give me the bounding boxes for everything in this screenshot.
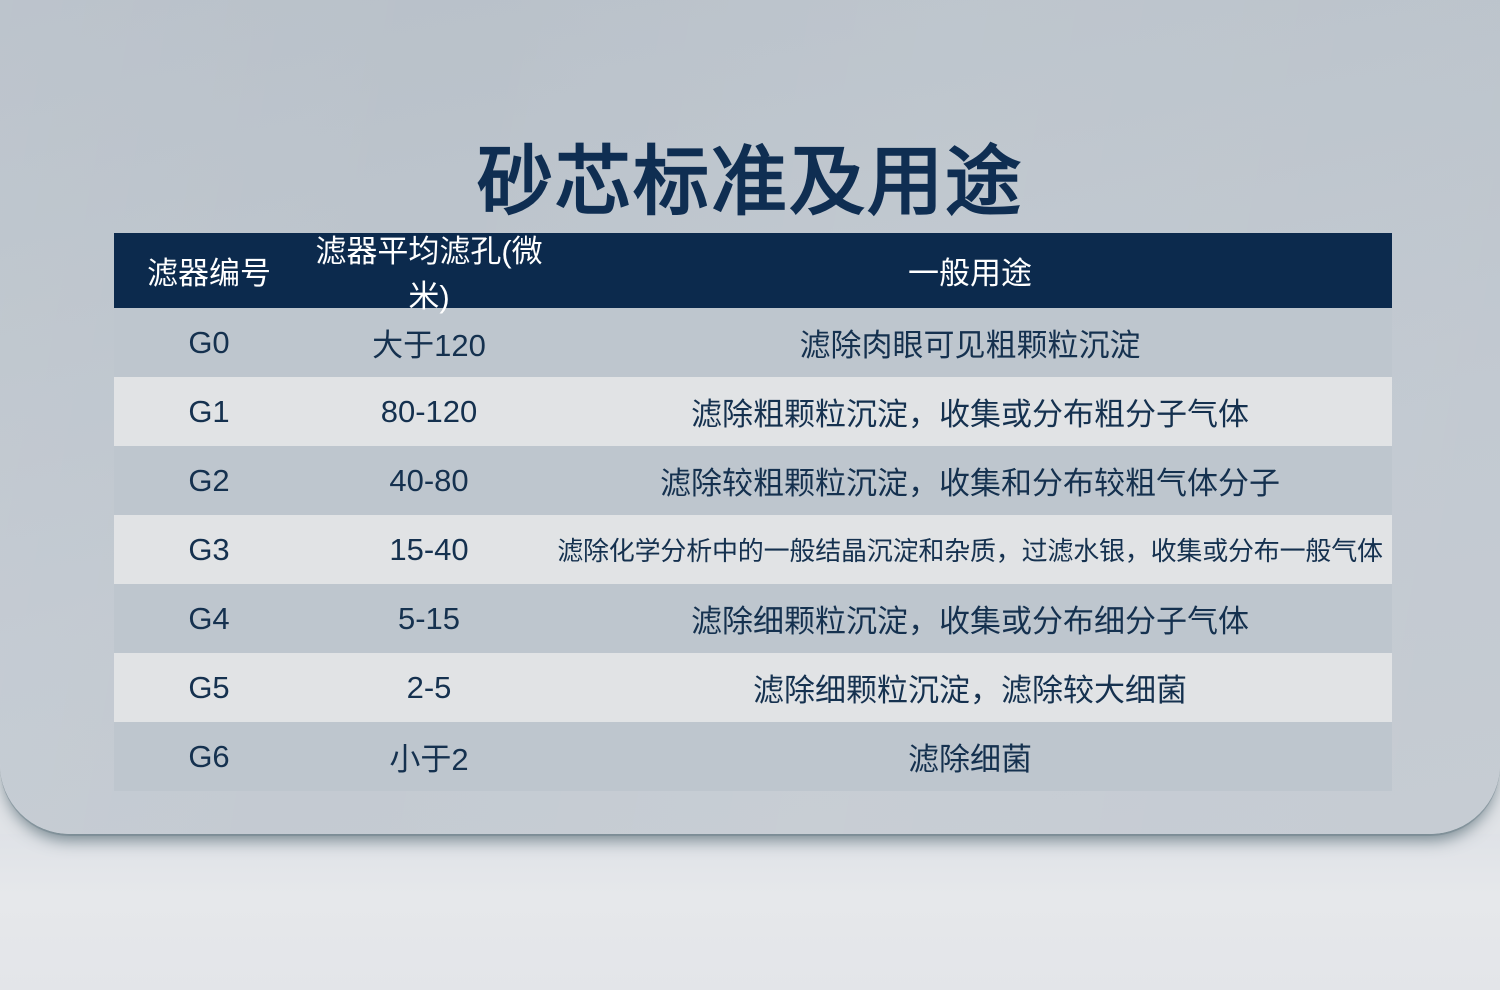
table-row: G6 小于2 滤除细菌 (114, 722, 1392, 791)
cell-average-pore: 小于2 (304, 734, 554, 779)
cell-filter-number: G2 (114, 463, 304, 499)
cell-filter-number: G6 (114, 739, 304, 775)
table-row: G4 5-15 滤除细颗粒沉淀，收集或分布细分子气体 (114, 584, 1392, 653)
cell-average-pore: 2-5 (304, 670, 554, 706)
column-header-filter-number: 滤器编号 (114, 248, 304, 293)
table-row: G0 大于120 滤除肉眼可见粗颗粒沉淀 (114, 308, 1392, 377)
page-stage: 砂芯标准及用途 滤器编号 滤器平均滤孔(微米) 一般用途 G0 大于120 滤除… (0, 0, 1500, 990)
cell-general-use: 滤除细菌 (554, 734, 1392, 779)
page-title: 砂芯标准及用途 (0, 145, 1500, 221)
cell-average-pore: 80-120 (304, 394, 554, 430)
filter-standards-table: 滤器编号 滤器平均滤孔(微米) 一般用途 G0 大于120 滤除肉眼可见粗颗粒沉… (114, 233, 1392, 791)
cell-average-pore: 40-80 (304, 463, 554, 499)
cell-general-use: 滤除细颗粒沉淀，滤除较大细菌 (554, 665, 1392, 710)
cell-average-pore: 5-15 (304, 601, 554, 637)
cell-general-use: 滤除较粗颗粒沉淀，收集和分布较粗气体分子 (554, 458, 1392, 503)
cell-filter-number: G0 (114, 325, 304, 361)
cell-filter-number: G1 (114, 394, 304, 430)
cell-general-use: 滤除细颗粒沉淀，收集或分布细分子气体 (554, 596, 1392, 641)
table-row: G3 15-40 滤除化学分析中的一般结晶沉淀和杂质，过滤水银，收集或分布一般气… (114, 515, 1392, 584)
cell-filter-number: G5 (114, 670, 304, 706)
column-header-general-use: 一般用途 (554, 248, 1392, 293)
cell-average-pore: 15-40 (304, 532, 554, 568)
column-header-average-pore: 滤器平均滤孔(微米) (304, 226, 554, 316)
cell-general-use: 滤除肉眼可见粗颗粒沉淀 (554, 320, 1392, 365)
cell-filter-number: G4 (114, 601, 304, 637)
page-background-lower (0, 834, 1500, 990)
cell-general-use: 滤除化学分析中的一般结晶沉淀和杂质，过滤水银，收集或分布一般气体 (554, 531, 1392, 568)
cell-filter-number: G3 (114, 532, 304, 568)
table-row: G1 80-120 滤除粗颗粒沉淀，收集或分布粗分子气体 (114, 377, 1392, 446)
cell-general-use: 滤除粗颗粒沉淀，收集或分布粗分子气体 (554, 389, 1392, 434)
table-row: G5 2-5 滤除细颗粒沉淀，滤除较大细菌 (114, 653, 1392, 722)
table-row: G2 40-80 滤除较粗颗粒沉淀，收集和分布较粗气体分子 (114, 446, 1392, 515)
table-header-row: 滤器编号 滤器平均滤孔(微米) 一般用途 (114, 233, 1392, 308)
cell-average-pore: 大于120 (304, 320, 554, 365)
